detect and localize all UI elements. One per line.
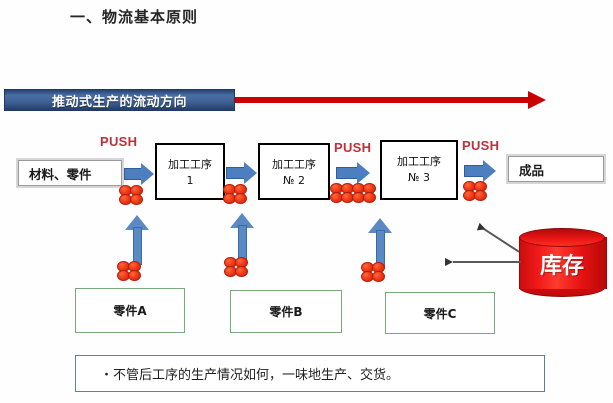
- red-dot-cluster-icon-5: [118, 262, 140, 280]
- finished-goods-box: 成品: [508, 156, 604, 182]
- red-dot-cluster-icon-1: [120, 186, 142, 204]
- push-label-3: PUSH: [462, 138, 499, 153]
- blue-right-arrow-icon-4: [464, 160, 498, 182]
- process-2-number: № 2: [260, 173, 328, 189]
- push-label-2: PUSH: [334, 140, 371, 155]
- material-parts-box: 材料、零件: [18, 160, 122, 186]
- part-box-c: 零件C: [385, 292, 495, 334]
- red-flow-arrow-icon: [235, 97, 531, 103]
- flow-direction-banner: 推动式生产的流动方向: [4, 89, 235, 111]
- process-1-number: 1: [157, 173, 223, 189]
- inventory-cylinder-icon: 库存: [519, 228, 605, 296]
- process-box-1: 加工工序 1: [155, 143, 225, 200]
- process-box-3: 加工工序 № 3: [380, 140, 458, 200]
- red-flow-arrow-head-icon: [528, 91, 546, 109]
- process-box-2: 加工工序 № 2: [258, 143, 330, 200]
- red-dot-cluster-icon-2: [224, 185, 246, 203]
- blue-up-arrow-icon-2: [230, 213, 254, 261]
- process-1-name: 加工工序: [157, 157, 223, 173]
- process-2-name: 加工工序: [260, 157, 328, 173]
- blue-up-arrow-icon-3: [368, 218, 392, 268]
- process-3-name: 加工工序: [382, 154, 456, 170]
- red-dot-cluster-icon-6: [225, 258, 247, 276]
- note-box: ・不管后工序的生产情况如何，一味地生产、交货。: [75, 355, 545, 392]
- blue-right-arrow-icon-1: [124, 163, 154, 185]
- push-label-1: PUSH: [100, 134, 137, 149]
- page-title: 一、物流基本原则: [70, 6, 198, 27]
- part-box-b: 零件B: [230, 290, 342, 333]
- process-3-number: № 3: [382, 170, 456, 186]
- blue-right-arrow-icon-3: [336, 162, 372, 184]
- inventory-label: 库存: [519, 248, 605, 280]
- red-dot-cluster-icon-4: [464, 182, 486, 200]
- red-dot-cluster-icon-7: [362, 263, 384, 281]
- slide-canvas: 一、物流基本原则 推动式生产的流动方向 材料、零件 PUSH 加工工序 1 加工…: [0, 0, 613, 403]
- part-box-a: 零件A: [75, 288, 185, 333]
- blue-up-arrow-icon-1: [125, 215, 149, 265]
- red-dot-cluster-icon-3: [331, 184, 375, 202]
- blue-right-arrow-icon-2: [226, 162, 258, 184]
